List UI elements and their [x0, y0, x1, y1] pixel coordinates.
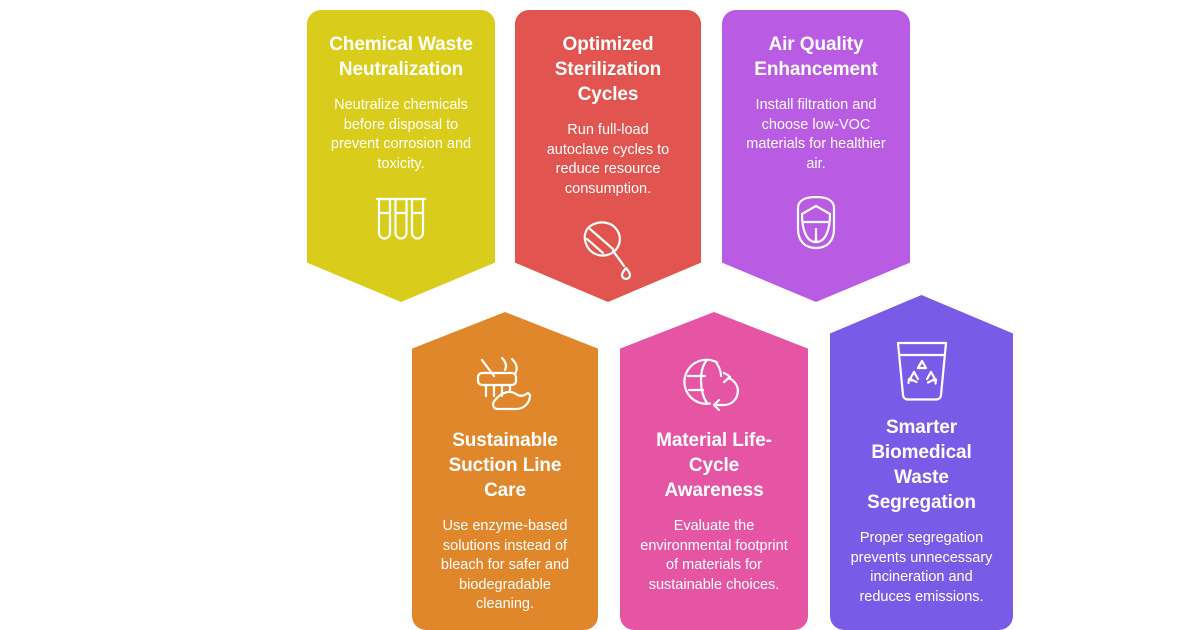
card-description: Run full-load autoclave cycles to reduce…	[531, 121, 685, 199]
suction-tip-droplet-icon	[577, 221, 639, 281]
card-title: Chemical Waste Neutralization	[323, 32, 479, 82]
card-description: Use enzyme-based solutions instead of bl…	[428, 517, 582, 615]
recycle-bin-icon	[892, 339, 952, 401]
infographic-canvas: Chemical Waste NeutralizationNeutralize …	[0, 0, 1200, 630]
card-chemical-waste-neutralization[interactable]: Chemical Waste NeutralizationNeutralize …	[307, 10, 495, 302]
card-title: Smarter Biomedical Waste Segregation	[846, 415, 997, 515]
card-optimized-sterilization-cycles[interactable]: Optimized Sterilization CyclesRun full-l…	[515, 10, 701, 302]
card-smarter-biomedical-waste-segregation[interactable]: Smarter Biomedical Waste SegregationProp…	[830, 295, 1013, 630]
card-description: Proper segregation prevents unnecessary …	[846, 529, 997, 607]
cleaning-brush-icon	[472, 356, 538, 414]
card-description: Neutralize chemicals before disposal to …	[323, 96, 479, 174]
card-title: Air Quality Enhancement	[738, 32, 894, 82]
card-description: Evaluate the environmental footprint of …	[636, 517, 792, 595]
face-mask-icon	[784, 196, 848, 250]
card-title: Sustainable Suction Line Care	[428, 428, 582, 503]
card-air-quality-enhancement[interactable]: Air Quality EnhancementInstall filtratio…	[722, 10, 910, 302]
card-title: Optimized Sterilization Cycles	[531, 32, 685, 107]
card-title: Material Life-Cycle Awareness	[636, 428, 792, 503]
card-material-life-cycle-awareness[interactable]: Material Life-Cycle AwarenessEvaluate th…	[620, 312, 808, 630]
globe-recycle-icon	[683, 356, 745, 414]
test-tubes-icon	[372, 196, 430, 246]
card-sustainable-suction-line-care[interactable]: Sustainable Suction Line CareUse enzyme-…	[412, 312, 598, 630]
card-description: Install filtration and choose low-VOC ma…	[738, 96, 894, 174]
